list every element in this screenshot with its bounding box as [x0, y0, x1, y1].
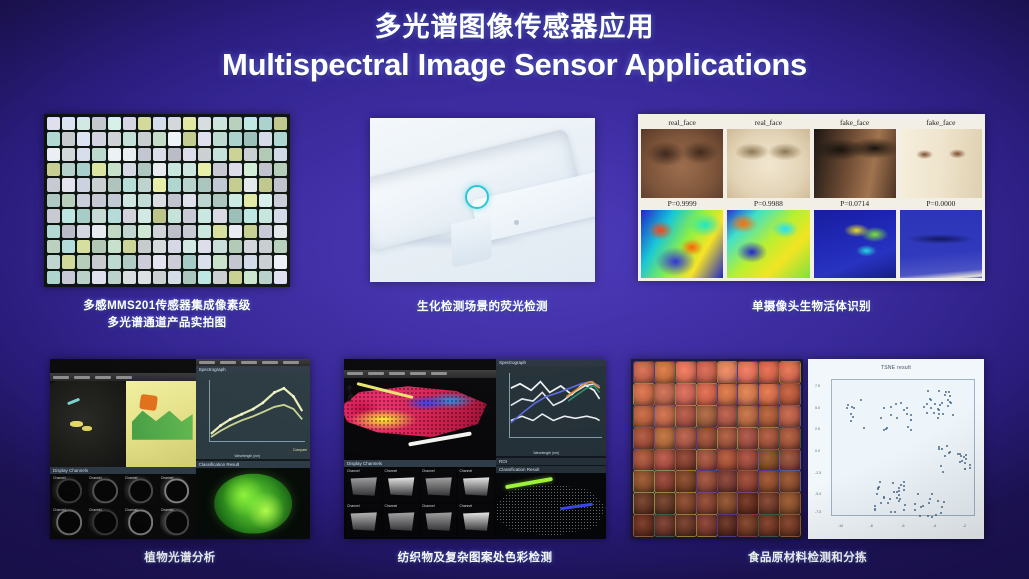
sensor-pixel [123, 117, 136, 130]
title-chinese: 多光谱图像传感器应用 [0, 12, 1029, 43]
sensor-pixel [198, 255, 211, 268]
face-photo [814, 129, 896, 198]
scatter-point [846, 407, 848, 409]
sensor-pixel [183, 132, 196, 145]
thumbnail-content [461, 512, 491, 532]
channel-thumbnail-grid: ChannelChannelChannelChannelChannelChann… [344, 467, 496, 539]
sensor-pixel [244, 225, 257, 238]
food-sample-cell [738, 362, 758, 383]
scatter-point [937, 500, 939, 502]
sensor-pixel [229, 240, 242, 253]
scatter-point [919, 515, 921, 517]
scatter-point [860, 399, 862, 401]
scatter-point [879, 481, 881, 483]
sensor-pixel [153, 255, 166, 268]
thumbnail-content [164, 510, 190, 535]
scatter-point [874, 505, 876, 507]
sensor-pixel [108, 178, 121, 191]
sensor-pixel [62, 194, 75, 207]
sensor-pixel [168, 163, 181, 176]
sensor-pixel [259, 209, 272, 222]
sensor-pixel [183, 148, 196, 161]
channel-thumbnail-grid: ChannelChannelChannelChannelChannelChann… [50, 474, 196, 539]
sensor-pixel [229, 209, 242, 222]
food-sample-cell [697, 471, 717, 492]
face-heatmap [814, 210, 896, 279]
sensor-pixel [229, 117, 242, 130]
scatter-point [863, 427, 865, 429]
chart-legend: Compare [293, 448, 307, 452]
scatter-point [903, 489, 905, 491]
fluorescence-device-image [370, 118, 595, 282]
sensor-pixel [213, 271, 226, 284]
food-sample-cell [655, 428, 675, 449]
sensor-pixel [213, 117, 226, 130]
scatter-point [939, 404, 941, 406]
sensor-pixel [229, 271, 242, 284]
thumbnail-panel-title: Display Channels [50, 467, 196, 474]
thumbnail-content [56, 478, 82, 503]
menu-chip [199, 361, 215, 364]
sensor-pixel [138, 240, 151, 253]
scatter-point [910, 429, 912, 431]
scatter-point [903, 485, 905, 487]
sensor-pixel [244, 178, 257, 191]
sensor-pixel [92, 194, 105, 207]
scatter-point [898, 500, 900, 502]
heatmap-cell: P=0.9999 [641, 198, 723, 279]
food-sample-cell [759, 493, 779, 514]
food-sample-cell [655, 406, 675, 427]
sensor-pixel [153, 163, 166, 176]
sensor-pixel [123, 163, 136, 176]
sensor-pixel [198, 225, 211, 238]
scatter-point [938, 390, 940, 392]
toolbar-chip [95, 376, 111, 379]
sensor-pixel [62, 178, 75, 191]
channel-thumbnail[interactable]: Channel [124, 508, 158, 537]
tsne-xtick: -10 [838, 524, 843, 528]
food-sample-cell [676, 493, 696, 514]
scatter-point [933, 412, 935, 414]
menu-chip [283, 361, 299, 364]
scatter-point [930, 399, 932, 401]
tsne-ytick: 5.0 [815, 406, 820, 410]
food-sample-cell [759, 450, 779, 471]
sensor-pixel [77, 209, 90, 222]
classification-result-view [196, 468, 310, 539]
toolbar-chip [74, 376, 90, 379]
face-heatmap-row: P=0.9999 P=0.9988 P=0.0714 P=0.0000 [641, 198, 982, 279]
channel-thumbnail[interactable]: Channel [160, 476, 194, 505]
spectrograph-chart: Wavelength (nm) [496, 366, 606, 456]
sensor-pixel [153, 240, 166, 253]
channel-thumbnail[interactable]: Channel [52, 476, 86, 505]
sensor-pixel [198, 117, 211, 130]
caption-fluorescence: 生化检测场景的荧光检测 [370, 299, 595, 316]
toolbar-chip [116, 376, 132, 379]
sensor-pixel [47, 255, 60, 268]
sensor-pixel [153, 117, 166, 130]
tsne-ytick: -5.0 [815, 492, 821, 496]
sensor-pixel [92, 148, 105, 161]
channel-thumbnail[interactable]: Channel [52, 508, 86, 537]
sensor-pixel [138, 148, 151, 161]
scatter-point [910, 419, 912, 421]
food-sample-cell [676, 428, 696, 449]
food-sample-cell [634, 384, 654, 405]
sensor-pixel [229, 132, 242, 145]
channel-thumbnail[interactable]: Channel [160, 508, 194, 537]
spectral-curves [209, 380, 305, 442]
sensor-pixel [92, 271, 105, 284]
sensor-pixel [77, 163, 90, 176]
sensor-pixel [213, 194, 226, 207]
presentation-slide: 多光谱图像传感器应用 Multispectral Image Sensor Ap… [0, 0, 1029, 579]
sensor-pixel [259, 132, 272, 145]
scatter-point [906, 413, 908, 415]
scatter-point [880, 502, 882, 504]
sensor-pixel [92, 132, 105, 145]
toolbar-chip [53, 376, 69, 379]
sensor-pixel [153, 148, 166, 161]
tsne-plot-wrapper: TSNE result 7.5 5.0 2.5 0.0 -2.5 -5.0 -7… [808, 359, 984, 539]
caption-line-1: 食品原材料检测和分拣 [631, 550, 984, 567]
sensor-pixel [47, 209, 60, 222]
scatter-point [941, 506, 943, 508]
caption-sensor-array: 多感MMS201传感器集成像素级 多光谱通道产品实拍图 [44, 298, 290, 331]
sensor-pixel [138, 163, 151, 176]
thumbnail-label: Channel [422, 504, 435, 508]
sensor-pixel [138, 225, 151, 238]
tsne-ytick: -2.5 [815, 471, 821, 475]
sensor-pixel [274, 132, 287, 145]
sensor-pixel [92, 255, 105, 268]
sensor-pixel [259, 225, 272, 238]
sensor-pixel [274, 240, 287, 253]
sensor-pixel [168, 132, 181, 145]
sensor-pixel [77, 148, 90, 161]
sensor-pixel [92, 209, 105, 222]
thumbnail-label: Channel [89, 508, 102, 512]
sensor-pixel [92, 225, 105, 238]
scatter-point [949, 395, 951, 397]
sensor-pixel [123, 225, 136, 238]
tsne-ytick: 2.5 [815, 427, 820, 431]
sensor-pixel [77, 271, 90, 284]
sensor-pixel [138, 255, 151, 268]
sensor-pixel [153, 271, 166, 284]
food-sample-cell [634, 428, 654, 449]
sensor-pixel [47, 271, 60, 284]
thumbnail-content [128, 510, 154, 535]
sensor-pixel [47, 178, 60, 191]
scatter-point [903, 509, 905, 511]
caption-line-1: 生化检测场景的荧光检测 [370, 299, 595, 316]
sensor-pixel [183, 209, 196, 222]
textile-toolbar[interactable] [344, 370, 496, 378]
food-sample-cell [738, 471, 758, 492]
scatter-point [898, 494, 900, 496]
sensor-pixel [108, 225, 121, 238]
sensor-pixel [198, 209, 211, 222]
food-sample-cell [655, 450, 675, 471]
food-sample-cell [780, 406, 800, 427]
sensor-pixel [244, 148, 257, 161]
scatter-point [903, 481, 905, 483]
sensor-pixel [108, 163, 121, 176]
face-photo [727, 129, 809, 198]
face-label: fake_face [814, 117, 896, 129]
scatter-point [934, 403, 936, 405]
scatter-point [894, 511, 896, 513]
caption-line-2: 多光谱通道产品实拍图 [44, 315, 290, 332]
sensor-pixel [108, 209, 121, 222]
toolbar-chip [347, 372, 363, 375]
scatter-point [906, 407, 908, 409]
sensor-pixel [153, 194, 166, 207]
sensor-pixel [123, 194, 136, 207]
textile-false-color-view [344, 378, 496, 460]
caption-plant-spectra: 植物光谱分析 [50, 550, 310, 567]
sensor-pixel [47, 225, 60, 238]
sensor-pixel [183, 255, 196, 268]
tsne-ytick: 0.0 [815, 449, 820, 453]
food-sample-cell [655, 362, 675, 383]
food-sample-cell [738, 450, 758, 471]
face-probability: P=0.9988 [727, 198, 809, 210]
thumbnail-content [386, 477, 416, 497]
classification-result-view [496, 473, 606, 539]
tsne-ytick: -7.5 [815, 510, 821, 514]
scatter-point [903, 409, 905, 411]
scatter-point [853, 407, 855, 409]
sensor-pixel [77, 194, 90, 207]
food-sample-cell [697, 362, 717, 383]
sensor-pixel [123, 132, 136, 145]
sensor-pixel [123, 240, 136, 253]
food-sample-cell [676, 406, 696, 427]
sensor-pixel [244, 240, 257, 253]
tsne-xtick: -4 [933, 524, 936, 528]
sensor-pixel [138, 271, 151, 284]
device-screw [514, 220, 519, 225]
food-sample-cell [780, 471, 800, 492]
channel-thumbnail[interactable]: Channel [88, 476, 122, 505]
channel-thumbnail[interactable]: Channel [124, 476, 158, 505]
channel-thumbnail[interactable]: Channel [88, 508, 122, 537]
sensor-pixel [244, 194, 257, 207]
scatter-point [940, 512, 942, 514]
spectrograph-chart: Wavelength (nm) Compare [196, 373, 310, 459]
sensor-pixel [138, 117, 151, 130]
sensor-pixel [47, 240, 60, 253]
caption-textile: 纺织物及复杂图案处色彩检测 [344, 550, 606, 567]
analysis-menubar[interactable] [196, 359, 310, 366]
sensor-pixel [62, 117, 75, 130]
scatter-point [961, 460, 963, 462]
sensor-pixel [153, 132, 166, 145]
camera-live-view [50, 381, 196, 467]
sensor-pixel [47, 132, 60, 145]
food-sample-cell [634, 362, 654, 383]
sensor-pixel [213, 255, 226, 268]
scatter-point [965, 454, 967, 456]
sensor-pixel [213, 209, 226, 222]
sensor-pixel [108, 255, 121, 268]
face-photo [641, 129, 723, 198]
sensor-pixel [168, 225, 181, 238]
sensor-pixel [168, 117, 181, 130]
thumbnail-label: Channel [459, 504, 472, 508]
scatter-point [847, 404, 849, 406]
sensor-pixel [198, 240, 211, 253]
caption-line-1: 植物光谱分析 [50, 550, 310, 567]
food-sample-cell [780, 362, 800, 383]
channel-thumbnail[interactable]: Channel [346, 504, 381, 537]
scatter-point [890, 414, 892, 416]
scatter-point [937, 417, 939, 419]
thumbnail-label: Channel [161, 508, 174, 512]
sensor-pixel [229, 194, 242, 207]
channel-thumbnail[interactable]: Channel [458, 469, 494, 502]
food-sample-cell [738, 493, 758, 514]
camera-toolbar[interactable] [50, 373, 196, 381]
scatter-point [883, 407, 885, 409]
fluorescence-marker-icon [465, 185, 489, 209]
sensor-pixel [274, 163, 287, 176]
sensor-pixel [153, 178, 166, 191]
food-sample-cell [634, 406, 654, 427]
sensor-pixel [244, 117, 257, 130]
food-sample-cell [738, 384, 758, 405]
tsne-scatter-area [831, 379, 975, 516]
result-panel-title: Classification Result [196, 461, 310, 468]
roi-panel-title: ROI [496, 458, 606, 465]
scatter-point [914, 509, 916, 511]
chart-xlabel: Wavelength (nm) [234, 454, 260, 458]
food-sample-cell [676, 515, 696, 536]
sensor-pixel [213, 148, 226, 161]
channel-thumbnail[interactable]: Channel [421, 504, 456, 537]
sensor-pixel [229, 255, 242, 268]
sensor-pixel [259, 163, 272, 176]
food-sample-cell [655, 515, 675, 536]
food-sample-cell [738, 515, 758, 536]
slide-title-block: 多光谱图像传感器应用 Multispectral Image Sensor Ap… [0, 12, 1029, 82]
scatter-point [852, 416, 854, 418]
caption-line-1: 单摄像头生物活体识别 [638, 299, 985, 316]
food-sample-cell [676, 362, 696, 383]
face-probability: P=0.9999 [641, 198, 723, 210]
channel-thumbnail[interactable]: Channel [421, 469, 456, 502]
scatter-point [943, 501, 945, 503]
thumbnail-label: Channel [161, 476, 174, 480]
face-cell: fake_face [814, 117, 896, 198]
food-sample-cell [780, 428, 800, 449]
thumbnail-content [92, 510, 118, 535]
channel-thumbnail[interactable]: Channel [346, 469, 381, 502]
sensor-pixel [274, 194, 287, 207]
channel-thumbnail[interactable]: Channel [458, 504, 494, 537]
scatter-point [952, 414, 954, 416]
scatter-point [940, 465, 942, 467]
thumbnail-label: Channel [89, 476, 102, 480]
scatter-point [898, 487, 900, 489]
scatter-point [942, 471, 944, 473]
channel-thumbnail[interactable]: Channel [383, 504, 418, 537]
food-sample-cell [697, 384, 717, 405]
sensor-pixel [92, 117, 105, 130]
thumbnail-content [128, 478, 154, 503]
caption-food-inspection: 食品原材料检测和分拣 [631, 550, 984, 567]
sensor-pixel [183, 178, 196, 191]
sensor-pixel [77, 225, 90, 238]
sensor-pixel [108, 194, 121, 207]
scatter-point [917, 493, 919, 495]
sensor-pixel [259, 240, 272, 253]
face-cell: real_face [641, 117, 723, 198]
food-sample-cell [718, 493, 738, 514]
menu-chip [220, 361, 236, 364]
thumbnail-content [424, 512, 454, 532]
sensor-pixel [274, 225, 287, 238]
scatter-point [964, 468, 966, 470]
food-sample-cell [759, 515, 779, 536]
sensor-pixel [92, 240, 105, 253]
sensor-pixel [259, 117, 272, 130]
sensor-pixel [47, 148, 60, 161]
caption-line-1: 纺织物及复杂图案处色彩检测 [344, 550, 606, 567]
sensor-pixel [198, 178, 211, 191]
thumbnail-label: Channel [125, 508, 138, 512]
sensor-pixel [274, 209, 287, 222]
sensor-pixel [77, 240, 90, 253]
food-sample-cell [759, 428, 779, 449]
sensor-pixel [77, 255, 90, 268]
scatter-point [931, 493, 933, 495]
scatter-point [926, 412, 928, 414]
toolbar-chip [368, 372, 384, 375]
scatter-point [850, 420, 852, 422]
face-probability: P=0.0000 [900, 198, 982, 210]
sensor-pixel [153, 225, 166, 238]
sensor-pixel [62, 225, 75, 238]
sensor-pixel [123, 271, 136, 284]
sensor-pixel [62, 163, 75, 176]
scatter-point [895, 403, 897, 405]
scatter-point [942, 413, 944, 415]
tsne-xtick: -2 [963, 524, 966, 528]
food-sample-cell [697, 515, 717, 536]
face-liveness-image: real_face real_face fake_face fake_face … [638, 114, 985, 281]
scatter-point [874, 508, 876, 510]
food-sample-cell [697, 406, 717, 427]
scatter-point [892, 482, 894, 484]
food-sample-cell [676, 471, 696, 492]
scatter-point [898, 490, 900, 492]
sensor-pixel [62, 255, 75, 268]
food-sample-cell [780, 493, 800, 514]
scatter-point [887, 502, 889, 504]
scatter-point [945, 391, 947, 393]
thumbnail-label: Channel [53, 508, 66, 512]
sensor-pixel [183, 163, 196, 176]
scatter-point [914, 503, 916, 505]
sensor-pixel [198, 194, 211, 207]
channel-thumbnail[interactable]: Channel [383, 469, 418, 502]
sensor-pixel [198, 132, 211, 145]
